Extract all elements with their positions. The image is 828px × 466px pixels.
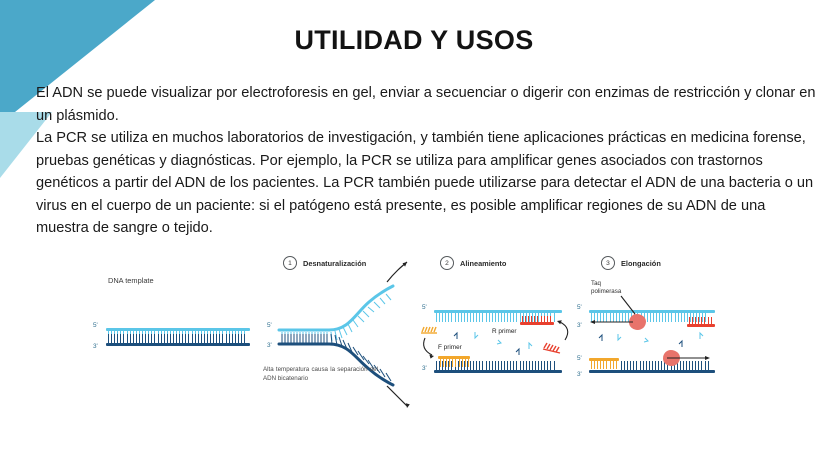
pcr-diagram: DNA template 5' 3' [80, 252, 752, 412]
template-three-prime-label: 3' [93, 343, 98, 350]
template-bottom-backbone [106, 343, 250, 346]
body-copy: El ADN se puede visualizar por electrofo… [36, 82, 820, 240]
paragraph-2: La PCR se utiliza en muchos laboratorios… [36, 127, 820, 240]
slide: UTILIDAD Y USOS El ADN se puede visualiz… [0, 0, 828, 466]
step-3-direction-arrows [575, 252, 752, 392]
template-five-prime-label: 5' [93, 322, 98, 329]
dna-template-heading: DNA template [108, 276, 154, 285]
step-2-floating-primers [420, 252, 575, 392]
step-1-separating-strands [265, 252, 420, 377]
paragraph-1: El ADN se puede visualizar por electrofo… [36, 82, 820, 127]
step-1-caption: Alta temperatura causa la separación del… [263, 365, 378, 383]
template-bottom-bases [108, 334, 247, 343]
page-title: UTILIDAD Y USOS [0, 25, 828, 56]
